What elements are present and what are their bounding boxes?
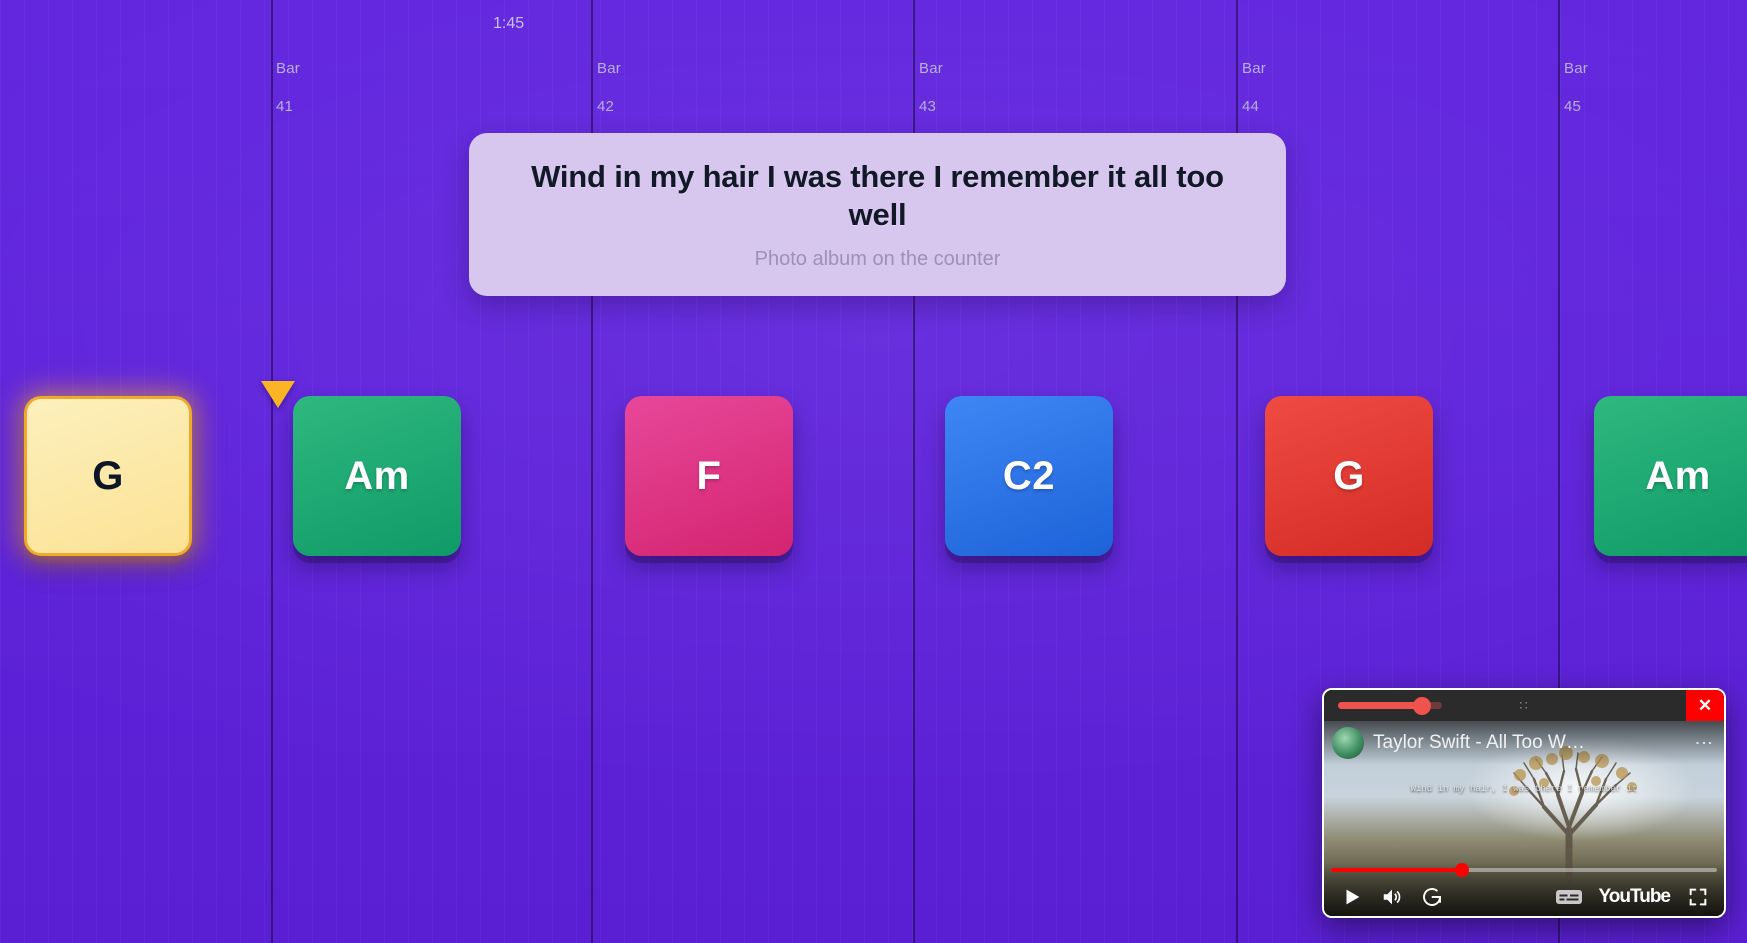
youtube-logo[interactable]: YouTube: [1599, 886, 1670, 908]
lyrics-card[interactable]: Wind in my hair I was there I remember i…: [469, 133, 1286, 296]
close-icon[interactable]: ✕: [1686, 690, 1724, 721]
video-title[interactable]: Taylor Swift - All Too W…: [1373, 732, 1692, 754]
chord-card-g-active[interactable]: G: [24, 396, 192, 556]
bar-label-41: Bar 41: [276, 40, 300, 116]
video-surface[interactable]: Taylor Swift - All Too W… ⋮ Wind in my h…: [1324, 721, 1724, 918]
bar-number-text: 44: [1242, 98, 1259, 115]
current-lyric-line: Wind in my hair I was there I remember i…: [503, 158, 1252, 234]
chord-card-am-2[interactable]: Am: [1594, 396, 1747, 556]
drag-handle-icon[interactable]: ∷: [1519, 699, 1528, 712]
bar-label-42: Bar 42: [597, 40, 621, 116]
bar-number-text: 45: [1564, 98, 1581, 115]
player-button-row: YouTube: [1324, 880, 1724, 914]
chord-card-c2[interactable]: C2: [945, 396, 1113, 556]
fullscreen-icon[interactable]: [1680, 882, 1716, 912]
bar-label-text: Bar: [1242, 60, 1266, 77]
video-progress-fill: [1331, 868, 1462, 872]
chord-label: G: [92, 454, 124, 499]
barline-41: [271, 0, 273, 943]
player-top-overlay: Taylor Swift - All Too W… ⋮: [1324, 721, 1724, 765]
playhead-marker-icon: [261, 381, 295, 408]
volume-icon[interactable]: [1372, 882, 1412, 912]
kebab-menu-icon[interactable]: ⋮: [1692, 734, 1716, 752]
chord-label: Am: [344, 454, 409, 499]
next-lyric-line: Photo album on the counter: [755, 248, 1001, 271]
youtube-mini-player[interactable]: ∷ ✕: [1322, 688, 1726, 918]
chord-card-f[interactable]: F: [625, 396, 793, 556]
time-marker: 1:45: [493, 15, 524, 33]
video-progress-knob[interactable]: [1455, 863, 1469, 877]
video-captions-overlay: Wind in my hair, I was there I remember …: [1324, 783, 1724, 796]
bar-number-text: 42: [597, 98, 614, 115]
chord-label: G: [1333, 454, 1365, 499]
bar-label-text: Bar: [276, 60, 300, 77]
chord-label: C2: [1003, 454, 1055, 499]
bar-number-text: 43: [919, 98, 936, 115]
bar-label-text: Bar: [597, 60, 621, 77]
chord-card-g[interactable]: G: [1265, 396, 1433, 556]
play-icon[interactable]: [1332, 882, 1372, 912]
bar-label-43: Bar 43: [919, 40, 943, 116]
loop-g-icon[interactable]: [1412, 882, 1452, 912]
player-titlebar[interactable]: ∷ ✕: [1324, 690, 1724, 721]
bar-label-44: Bar 44: [1242, 40, 1266, 116]
chord-card-am[interactable]: Am: [293, 396, 461, 556]
video-progress-bar[interactable]: [1331, 868, 1717, 872]
player-controls[interactable]: YouTube: [1324, 862, 1724, 918]
subtitles-icon[interactable]: [1549, 882, 1589, 912]
opacity-slider-fill: [1338, 702, 1421, 709]
opacity-slider-knob[interactable]: [1413, 697, 1431, 715]
chord-timeline-canvas[interactable]: 1:45 Bar 41 Bar 42 Bar 43 Bar 44 Bar 45 …: [0, 0, 1747, 943]
chord-label: F: [697, 454, 722, 499]
bar-number-text: 41: [276, 98, 293, 115]
opacity-slider[interactable]: [1338, 702, 1442, 709]
bar-label-text: Bar: [919, 60, 943, 77]
chord-label: Am: [1645, 454, 1710, 499]
channel-avatar[interactable]: [1332, 727, 1364, 759]
bar-label-text: Bar: [1564, 60, 1588, 77]
bar-label-45: Bar 45: [1564, 40, 1588, 116]
